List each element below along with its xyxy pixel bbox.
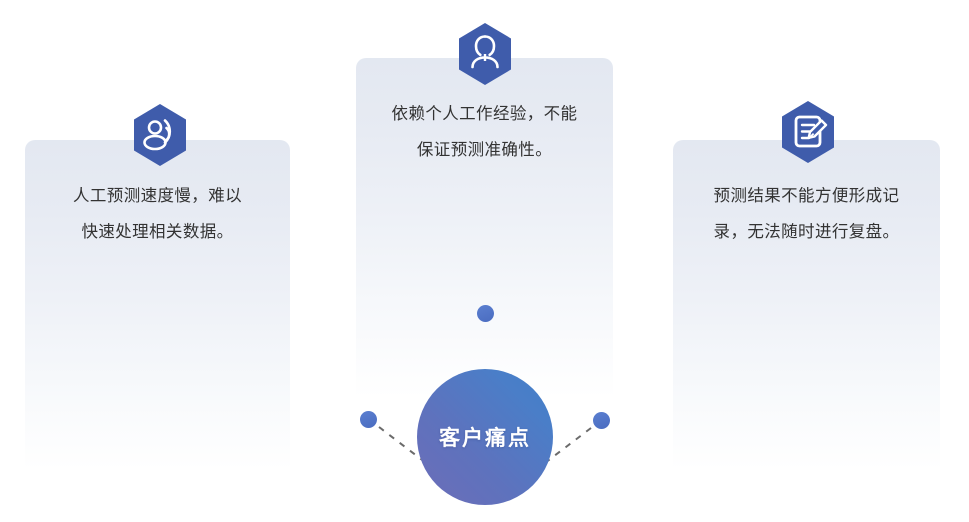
infographic-canvas: 人工预测速度慢，难以 快速处理相关数据。 依赖个人工作经验，不能 保证预测准确性… <box>0 0 969 522</box>
person-broadcast-icon <box>132 103 188 167</box>
pain-point-card-3-text: 预测结果不能方便形成记 录，无法随时进行复盘。 <box>673 178 940 250</box>
pain-point-card-2-text: 依赖个人工作经验，不能 保证预测准确性。 <box>356 96 613 168</box>
center-hub[interactable]: 客户痛点 <box>417 369 553 505</box>
document-edit-icon <box>780 100 836 164</box>
pain-point-card-1-text: 人工预测速度慢，难以 快速处理相关数据。 <box>25 178 290 250</box>
center-hub-label: 客户痛点 <box>439 422 531 452</box>
connector-dot-left <box>360 411 377 428</box>
user-person-icon <box>457 22 513 86</box>
connector-dot-right <box>593 412 610 429</box>
connector-dot-top <box>477 305 494 322</box>
